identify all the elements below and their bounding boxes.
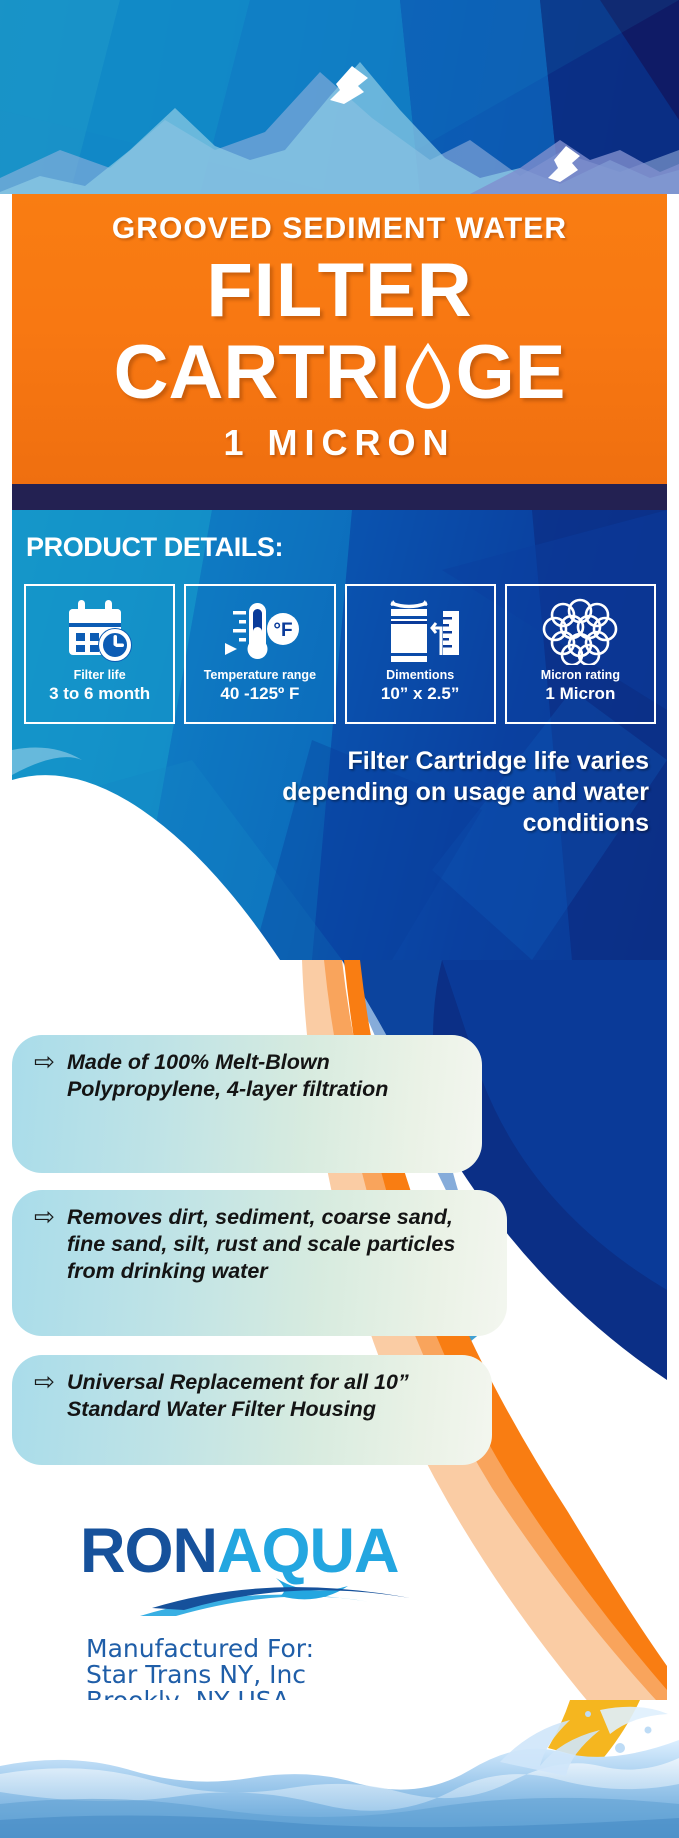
feature-text: Made of 100% Melt-Blown Polypropylene, 4… — [67, 1049, 464, 1103]
water-drop-letter: D — [401, 334, 456, 412]
water-drop-icon — [402, 341, 454, 411]
mountain-range-graphic — [0, 0, 679, 194]
title-line2-pre: CARTRI — [114, 330, 401, 415]
water-splash-footer — [0, 1700, 679, 1838]
navy-divider — [12, 484, 667, 510]
feature-text: Removes dirt, sediment, coarse sand, fin… — [67, 1204, 489, 1285]
logo-wave-icon — [80, 1520, 480, 1640]
product-title-line2: CARTRIDGE — [12, 334, 667, 412]
product-superline: GROOVED SEDIMENT WATER — [12, 212, 667, 246]
water-splash-graphic — [0, 1700, 679, 1838]
mfg-line-1: Manufactured For: — [86, 1636, 392, 1662]
hero-mountain-banner — [0, 0, 679, 194]
title-band: GROOVED SEDIMENT WATER FILTER CARTRIDGE … — [12, 194, 667, 484]
brand-logo: RONAQUA — [80, 1520, 480, 1640]
title-line2-post: GE — [456, 330, 566, 415]
feature-pill: ⇨ Universal Replacement for all 10” Stan… — [12, 1355, 492, 1465]
arrow-bullet-icon: ⇨ — [34, 1369, 55, 1423]
arrow-bullet-icon: ⇨ — [34, 1049, 55, 1103]
feature-pill: ⇨ Removes dirt, sediment, coarse sand, f… — [12, 1190, 507, 1336]
feature-pill: ⇨ Made of 100% Melt-Blown Polypropylene,… — [12, 1035, 482, 1173]
product-title-line1: FILTER — [12, 252, 667, 330]
product-label-page: GROOVED SEDIMENT WATER FILTER CARTRIDGE … — [0, 0, 679, 1838]
micron-rating-subline: 1 MICRON — [12, 422, 667, 464]
product-details-panel: PRODUCT DETAILS: — [12, 510, 667, 960]
mfg-line-2: Star Trans NY, Inc — [86, 1662, 392, 1688]
white-wedge-shape — [12, 510, 667, 960]
arrow-bullet-icon: ⇨ — [34, 1204, 55, 1285]
feature-text: Universal Replacement for all 10” Standa… — [67, 1369, 474, 1423]
